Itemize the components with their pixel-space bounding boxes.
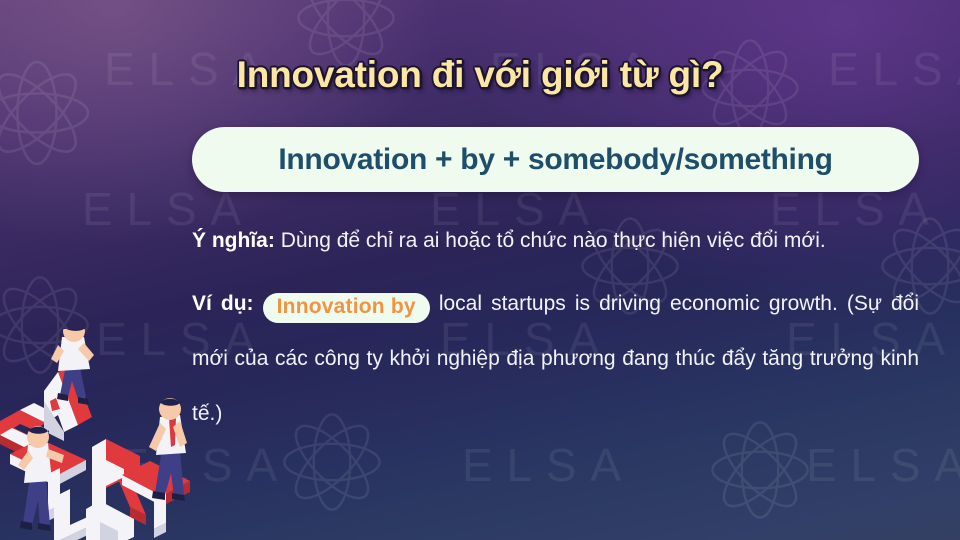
page-title: Innovation đi với giới từ gì?: [0, 54, 960, 96]
meaning-paragraph: Ý nghĩa: Dùng để chỉ ra ai hoặc tổ chức …: [192, 213, 919, 268]
example-chip: Innovation by: [263, 293, 430, 323]
body-content: Ý nghĩa: Dùng để chỉ ra ai hoặc tổ chức …: [192, 213, 919, 441]
example-label: Ví dụ:: [192, 292, 254, 315]
watermark-elsa: ELSA: [806, 438, 960, 492]
slide-canvas: ELSA ELSA ELSA ELSA ELSA ELSA ELSA ELSA …: [0, 0, 960, 540]
example-paragraph: Ví dụ: Innovation by local startups is d…: [192, 276, 919, 441]
meaning-text: Dùng để chỉ ra ai hoặc tổ chức nào thực …: [281, 229, 826, 252]
formula-banner: Innovation + by + somebody/something: [192, 127, 919, 192]
formula-text: Innovation + by + somebody/something: [278, 143, 832, 177]
meaning-label: Ý nghĩa:: [192, 229, 275, 252]
letter-p: [86, 501, 134, 540]
watermark-elsa: ELSA: [462, 438, 635, 492]
startup-isometric-letters: .lr { fill:#e03a3f; } .lrd { fill:#b82c3…: [0, 329, 204, 540]
